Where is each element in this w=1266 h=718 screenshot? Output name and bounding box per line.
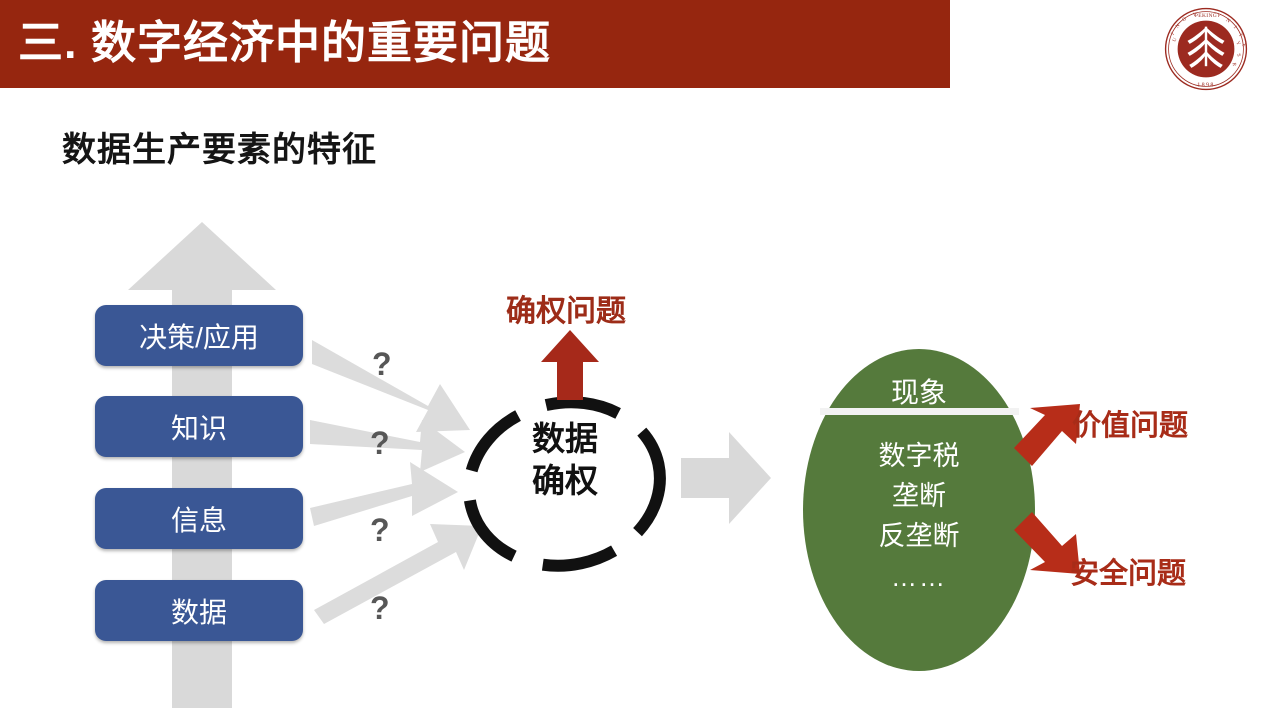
- red-arrow-up-right-icon: [1014, 404, 1080, 466]
- university-seal-icon: PEKING 1898 U Y N I T G N I V I S R E: [1163, 6, 1249, 92]
- section-subtitle: 数据生产要素的特征: [62, 122, 377, 171]
- question-mark-3: ?: [370, 514, 390, 546]
- grey-right-arrow-icon: [681, 432, 771, 524]
- security-issue-label: 安全问题: [1070, 550, 1186, 592]
- red-up-arrow-icon: [541, 330, 599, 400]
- svg-text:U: U: [1172, 37, 1179, 43]
- value-issue-label: 价值问题: [1072, 402, 1188, 444]
- svg-text:T: T: [1237, 32, 1244, 39]
- svg-text:1898: 1898: [1197, 82, 1215, 88]
- ellipse-item-digital-tax: 数字税: [803, 436, 1035, 476]
- ellipse-item-monopoly: 垄断: [803, 476, 1035, 516]
- ellipse-divider: [820, 408, 1019, 415]
- ownership-issue-label: 确权问题: [506, 286, 626, 330]
- ladder-box-data[interactable]: 数据: [95, 580, 303, 641]
- question-mark-1: ?: [372, 348, 392, 380]
- ladder-box-knowledge[interactable]: 知识: [95, 396, 303, 457]
- ladder-box-information[interactable]: 信息: [95, 488, 303, 549]
- svg-text:R: R: [1231, 62, 1237, 67]
- question-mark-2: ?: [370, 427, 390, 459]
- page-title: 三. 数字经济中的重要问题: [18, 12, 551, 74]
- circle-label-line1: 数据: [492, 418, 638, 460]
- ellipse-ellipsis: ……: [803, 562, 1035, 593]
- red-up-right-arrow-shape: [1014, 404, 1080, 466]
- red-up-arrow-shape: [541, 330, 599, 400]
- ellipse-item-list: 数字税 垄断 反垄断: [803, 436, 1035, 556]
- circle-label-line2: 确权: [492, 460, 638, 502]
- ellipse-item-antimonopoly: 反垄断: [803, 516, 1035, 556]
- peking-university-logo: PEKING 1898 U Y N I T G N I V I S R E: [1163, 6, 1249, 92]
- question-mark-4: ?: [370, 592, 390, 624]
- ladder-box-decision[interactable]: 决策/应用: [95, 305, 303, 366]
- svg-text:S: S: [1235, 53, 1242, 58]
- ellipse-heading: 现象: [803, 371, 1035, 411]
- circle-label: 数据 确权: [492, 418, 638, 502]
- svg-text:PEKING: PEKING: [1195, 13, 1217, 19]
- slide-canvas: 三. 数字经济中的重要问题 PEKING 1898 U Y N I T: [0, 0, 1266, 718]
- right-arrow-shape: [681, 432, 771, 524]
